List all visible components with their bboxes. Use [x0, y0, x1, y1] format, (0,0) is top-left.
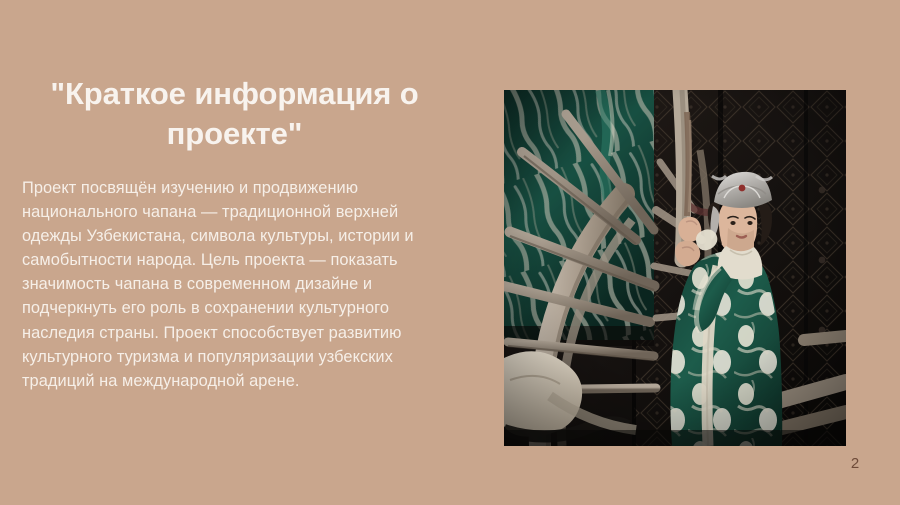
page-number: 2 — [842, 455, 868, 473]
page-title: "Краткое информация о проекте" — [22, 74, 447, 154]
left-text-column: "Краткое информация о проекте" Проект по… — [0, 0, 470, 505]
photo-illustration — [504, 90, 846, 446]
project-photo — [504, 90, 846, 446]
body-paragraph: Проект посвящён изучению и продвижению н… — [22, 176, 432, 393]
slide-canvas: "Краткое информация о проекте" Проект по… — [0, 0, 900, 505]
